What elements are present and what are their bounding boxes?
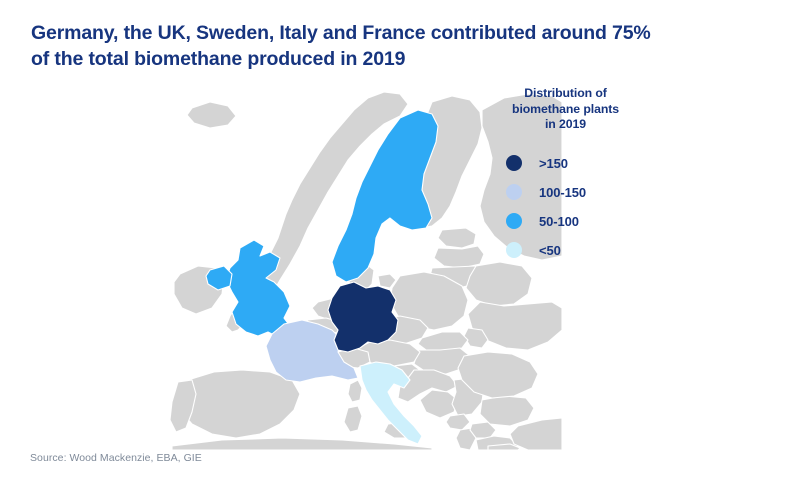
legend-item-label: 100-150 (539, 185, 586, 200)
country-belarus (466, 262, 532, 306)
legend-item-label: 50-100 (539, 214, 579, 229)
country-montenegro (446, 414, 470, 430)
source-note: Source: Wood Mackenzie, EBA, GIE (30, 452, 202, 464)
page-title-line-2: of the total biomethane produced in 2019 (31, 46, 761, 72)
island-sardinia (344, 406, 362, 432)
island-corsica (348, 380, 362, 402)
country-north-africa (172, 438, 432, 450)
legend-item-50-100[interactable]: 50-100 (506, 207, 653, 236)
legend-swatch-icon (506, 213, 522, 229)
legend-item-100-150[interactable]: 100-150 (506, 178, 653, 207)
legend-item-under-50[interactable]: <50 (506, 236, 653, 265)
map-legend: Distribution of biomethane plants in 201… (478, 86, 653, 265)
legend-swatch-icon (506, 242, 522, 258)
legend-title: Distribution of biomethane plants in 201… (478, 86, 653, 133)
legend-title-line-1: Distribution of (478, 86, 653, 102)
legend-title-line-3: in 2019 (478, 117, 653, 133)
page-title-line-1: Germany, the UK, Sweden, Italy and Franc… (31, 20, 761, 46)
legend-item-over-150[interactable]: >150 (506, 149, 653, 178)
legend-swatch-icon (506, 184, 522, 200)
legend-item-label: >150 (539, 156, 568, 171)
legend-title-line-2: biomethane plants (478, 102, 653, 118)
country-latvia (434, 246, 484, 268)
legend-swatch-icon (506, 155, 522, 171)
country-spain (178, 370, 300, 438)
country-bulgaria (480, 396, 534, 426)
country-estonia (438, 228, 476, 248)
legend-items: >150 100-150 50-100 <50 (478, 149, 653, 265)
legend-item-label: <50 (539, 243, 561, 258)
country-iceland (187, 102, 236, 128)
page-title: Germany, the UK, Sweden, Italy and Franc… (31, 20, 761, 72)
